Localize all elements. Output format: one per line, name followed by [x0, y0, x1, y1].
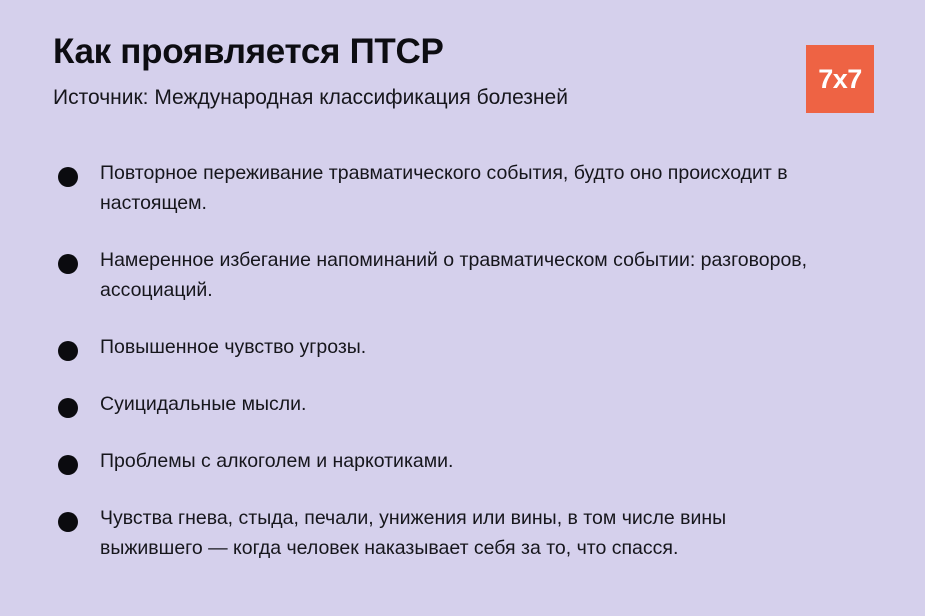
bullet-dot-icon	[58, 254, 78, 274]
list-item-text: Повторное переживание травматического со…	[100, 158, 828, 218]
header: Как проявляется ПТСР Источник: Междунаро…	[53, 31, 793, 111]
list-item-text: Чувства гнева, стыда, печали, унижения и…	[100, 503, 828, 563]
list-item: Суицидальные мысли.	[55, 389, 855, 419]
bullet-dot-icon	[58, 167, 78, 187]
list-item-text: Проблемы с алкоголем и наркотиками.	[100, 446, 828, 476]
brand-logo: 7x7	[806, 45, 874, 113]
bullet-dot-icon	[58, 455, 78, 475]
list-item-text: Намеренное избегание напоминаний о травм…	[100, 245, 828, 305]
page-title: Как проявляется ПТСР	[53, 31, 793, 72]
bullet-dot-icon	[58, 341, 78, 361]
list-item: Намеренное избегание напоминаний о травм…	[55, 245, 855, 305]
list-item-text: Суицидальные мысли.	[100, 389, 828, 419]
infographic-card: Как проявляется ПТСР Источник: Междунаро…	[0, 0, 925, 616]
list-item: Повышенное чувство угрозы.	[55, 332, 855, 362]
symptom-list: Повторное переживание травматического со…	[55, 158, 855, 563]
bullet-dot-icon	[58, 512, 78, 532]
list-item-text: Повышенное чувство угрозы.	[100, 332, 828, 362]
list-item: Повторное переживание травматического со…	[55, 158, 855, 218]
bullet-dot-icon	[58, 398, 78, 418]
source-subtitle: Источник: Международная классификация бо…	[53, 84, 793, 111]
brand-logo-text: 7x7	[818, 66, 862, 93]
list-item: Чувства гнева, стыда, печали, унижения и…	[55, 503, 855, 563]
list-item: Проблемы с алкоголем и наркотиками.	[55, 446, 855, 476]
